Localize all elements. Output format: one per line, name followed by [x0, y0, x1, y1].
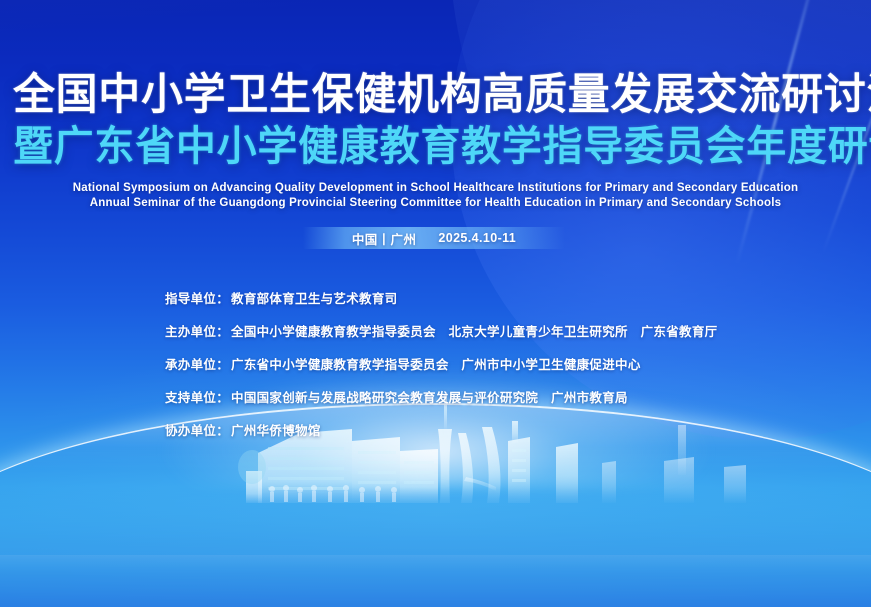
- poster-subtitle: National Symposium on Advancing Quality …: [0, 181, 871, 211]
- organizer-row: 支持单位： 中国国家创新与发展战略研究会教育发展与评价研究院 广州市教育局: [165, 387, 717, 406]
- organizer-row: 指导单位： 教育部体育卫生与艺术教育司: [165, 288, 717, 307]
- poster-title: 全国中小学卫生保健机构高质量发展交流研讨活动 暨广东省中小学健康教育教学指导委员…: [0, 74, 871, 167]
- organizer-label: 承办单位：: [165, 354, 229, 373]
- organizer-value: 中国国家创新与发展战略研究会教育发展与评价研究院 广州市教育局: [231, 387, 628, 406]
- organizer-row: 主办单位： 全国中小学健康教育教学指导委员会 北京大学儿童青少年卫生研究所 广东…: [165, 321, 717, 340]
- location-text: 中国丨广州: [352, 229, 417, 248]
- base-gradient: [0, 487, 871, 607]
- date-text: 2025.4.10-11: [438, 231, 516, 245]
- organizer-label: 指导单位：: [165, 288, 229, 307]
- organizer-value: 广州华侨博物馆: [231, 420, 321, 439]
- organizer-row: 协办单位： 广州华侨博物馆: [165, 420, 717, 439]
- date-location-banner: 中国丨广州 2025.4.10-11: [303, 227, 565, 249]
- organizer-row: 承办单位： 广东省中小学健康教育教学指导委员会 广州市中小学卫生健康促进中心: [165, 354, 717, 373]
- organizer-label: 协办单位：: [165, 420, 229, 439]
- subtitle-line-2: Annual Seminar of the Guangdong Provinci…: [0, 196, 871, 211]
- organizer-list: 指导单位： 教育部体育卫生与艺术教育司 主办单位： 全国中小学健康教育教学指导委…: [165, 288, 717, 453]
- organizer-value: 广东省中小学健康教育教学指导委员会 广州市中小学卫生健康促进中心: [231, 354, 641, 373]
- conference-poster: 全国中小学卫生保健机构高质量发展交流研讨活动 暨广东省中小学健康教育教学指导委员…: [0, 0, 871, 607]
- organizer-value: 教育部体育卫生与艺术教育司: [231, 288, 397, 307]
- organizer-label: 主办单位：: [165, 321, 229, 340]
- subtitle-line-1: National Symposium on Advancing Quality …: [0, 181, 871, 196]
- organizer-value: 全国中小学健康教育教学指导委员会 北京大学儿童青少年卫生研究所 广东省教育厅: [231, 321, 717, 340]
- title-line-secondary: 暨广东省中小学健康教育教学指导委员会年度研讨活动: [13, 126, 858, 167]
- organizer-label: 支持单位：: [165, 387, 229, 406]
- title-line-primary: 全国中小学卫生保健机构高质量发展交流研讨活动: [13, 74, 858, 117]
